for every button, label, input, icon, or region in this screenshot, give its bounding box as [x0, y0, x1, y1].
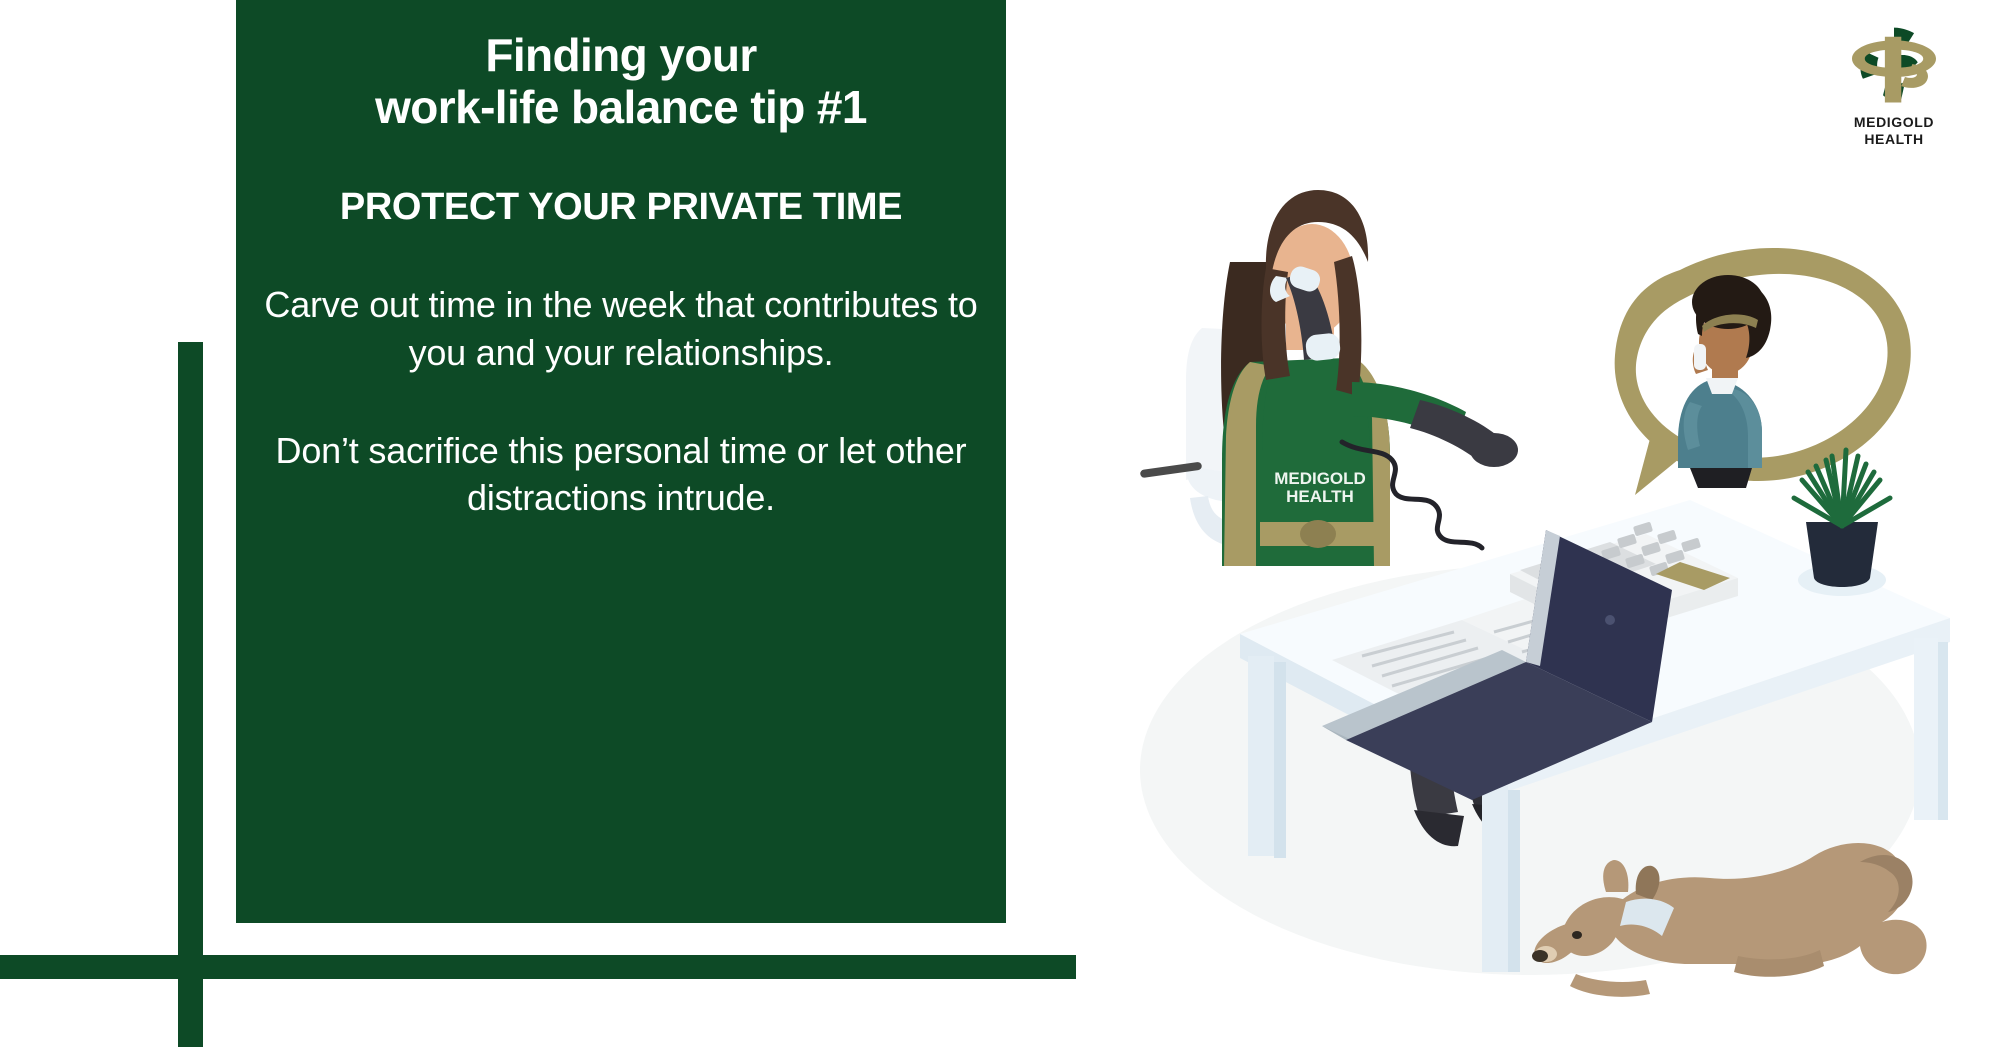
uniform-badge-line-1: MEDIGOLD [1274, 469, 1366, 488]
poster-canvas: Finding your work-life balance tip #1 PR… [0, 0, 2000, 1047]
medigold-emblem-icon [1848, 24, 1940, 108]
vertical-green-rule [178, 342, 203, 1047]
dog-nose [1532, 950, 1548, 962]
horizontal-green-rule [0, 955, 1076, 979]
body-copy: Carve out time in the week that contribu… [264, 281, 978, 523]
paragraph-2: Don’t sacrifice this personal time or le… [264, 427, 978, 523]
green-text-panel: Finding your work-life balance tip #1 PR… [236, 0, 1006, 923]
headline-line-1: Finding your [264, 30, 978, 82]
logo-word-line-2: HEALTH [1854, 131, 1934, 148]
illustration: MEDIGOLD HEALTH [1090, 150, 1970, 1030]
paragraph-1: Carve out time in the week that contribu… [264, 281, 978, 377]
caller-in-bubble [1678, 275, 1771, 488]
uniform-badge-line-2: HEALTH [1286, 487, 1354, 506]
plant-pot [1806, 522, 1878, 587]
brand-logo: MEDIGOLD HEALTH [1828, 24, 1960, 150]
page-title: Finding your work-life balance tip #1 [264, 30, 978, 133]
subheading: PROTECT YOUR PRIVATE TIME [264, 187, 978, 229]
dog-eye [1572, 931, 1582, 939]
logo-word-line-1: MEDIGOLD [1854, 114, 1934, 131]
potted-plant [1794, 450, 1890, 596]
headline-line-2: work-life balance tip #1 [264, 82, 978, 134]
logo-wordmark: MEDIGOLD HEALTH [1854, 114, 1934, 148]
speech-bubble [1615, 248, 1911, 495]
dog-front-leg [1570, 974, 1650, 997]
